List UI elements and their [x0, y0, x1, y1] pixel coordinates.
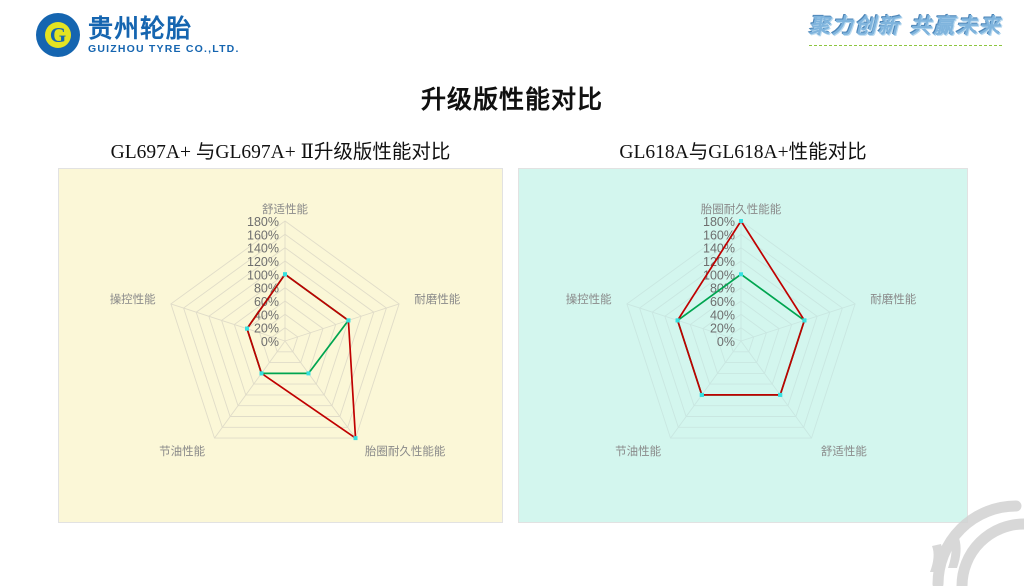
slogan-text: 聚力创新 共赢未来 — [809, 10, 1002, 40]
svg-text:0%: 0% — [261, 335, 279, 349]
svg-text:耐磨性能: 耐磨性能 — [414, 292, 460, 306]
radar-svg-left: 180%160%140%120%100%80%60%40%20%0%舒适性能耐磨… — [59, 169, 504, 524]
svg-text:160%: 160% — [703, 228, 735, 242]
page-title: 升级版性能对比 — [0, 80, 1024, 116]
svg-text:160%: 160% — [247, 228, 279, 242]
svg-text:60%: 60% — [710, 295, 735, 309]
svg-text:操控性能: 操控性能 — [566, 292, 612, 306]
svg-text:120%: 120% — [247, 255, 279, 269]
svg-text:节油性能: 节油性能 — [615, 444, 661, 458]
radar-svg-right: 180%160%140%120%100%80%60%40%20%0%胎圈耐久性能… — [519, 169, 969, 524]
slogan-block: 聚力创新 共赢未来 — [809, 10, 1002, 46]
svg-text:180%: 180% — [247, 215, 279, 229]
page-header: G 贵州轮胎 GUIZHOU TYRE CO.,LTD. 聚力创新 共赢未来 — [0, 0, 1024, 64]
slogan-divider — [809, 45, 1002, 46]
radar-chart-right: 180%160%140%120%100%80%60%40%20%0%胎圈耐久性能… — [518, 168, 968, 523]
svg-text:耐磨性能: 耐磨性能 — [870, 292, 916, 306]
chart-title-right: GL618A与GL618A+性能对比 — [518, 140, 968, 168]
svg-text:胎圈耐久性能能: 胎圈耐久性能能 — [365, 444, 446, 458]
logo-text-block: 贵州轮胎 GUIZHOU TYRE CO.,LTD. — [88, 15, 240, 56]
svg-text:20%: 20% — [254, 322, 279, 336]
svg-text:180%: 180% — [703, 215, 735, 229]
radar-chart-left: 180%160%140%120%100%80%60%40%20%0%舒适性能耐磨… — [58, 168, 503, 523]
svg-text:140%: 140% — [247, 242, 279, 256]
svg-text:节油性能: 节油性能 — [159, 444, 205, 458]
svg-text:40%: 40% — [710, 308, 735, 322]
svg-text:舒适性能: 舒适性能 — [821, 444, 867, 458]
svg-text:0%: 0% — [717, 335, 735, 349]
svg-text:40%: 40% — [254, 308, 279, 322]
company-logo: G 贵州轮胎 GUIZHOU TYRE CO.,LTD. — [36, 13, 240, 57]
logo-name-cn: 贵州轮胎 — [88, 15, 240, 43]
svg-text:20%: 20% — [710, 322, 735, 336]
chart-title-left: GL697A+ 与GL697A+ Ⅱ升级版性能对比 — [58, 140, 503, 168]
logo-name-en: GUIZHOU TYRE CO.,LTD. — [88, 43, 240, 56]
logo-emblem-icon: G — [36, 13, 80, 57]
logo-monogram: G — [36, 13, 80, 57]
svg-text:140%: 140% — [703, 242, 735, 256]
svg-text:120%: 120% — [703, 255, 735, 269]
svg-text:100%: 100% — [703, 268, 735, 282]
svg-text:胎圈耐久性能能: 胎圈耐久性能能 — [701, 202, 782, 216]
chart-panel-right: GL618A与GL618A+性能对比 180%160%140%120%100%8… — [518, 140, 968, 523]
svg-text:舒适性能: 舒适性能 — [262, 202, 308, 216]
svg-text:操控性能: 操控性能 — [110, 292, 156, 306]
svg-text:100%: 100% — [247, 268, 279, 282]
chart-panel-left: GL697A+ 与GL697A+ Ⅱ升级版性能对比 180%160%140%12… — [58, 140, 503, 523]
